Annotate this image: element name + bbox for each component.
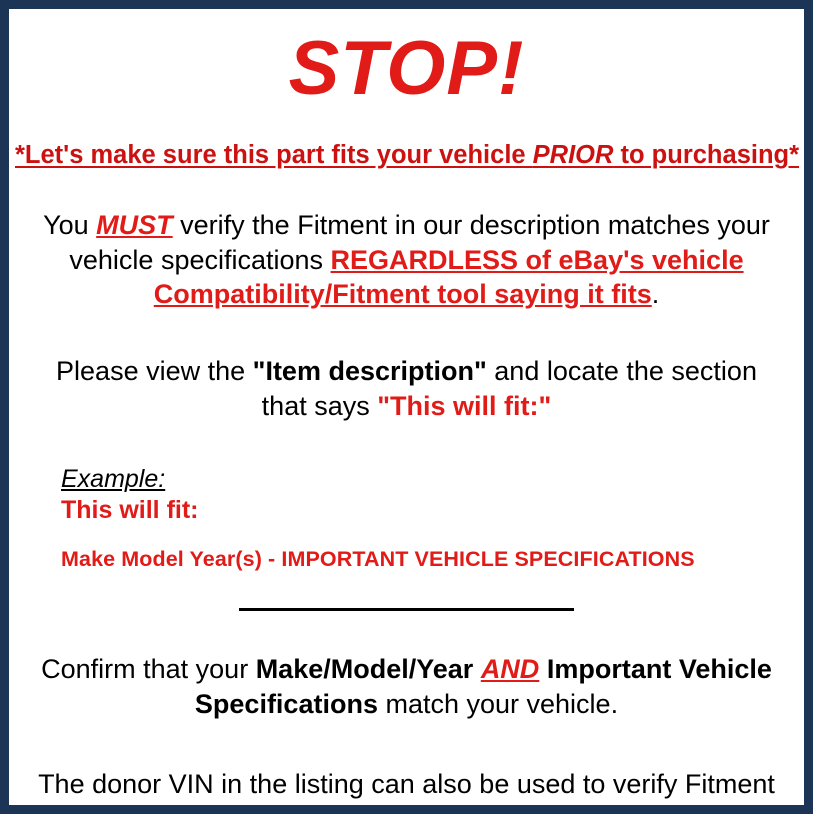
please-text-1: Please view the bbox=[56, 356, 253, 386]
must-text-3: . bbox=[652, 279, 660, 309]
page-title: STOP! bbox=[9, 31, 804, 107]
example-fit-heading: This will fit: bbox=[61, 495, 804, 525]
horizontal-rule bbox=[239, 608, 574, 611]
paragraph-item-description: Please view the "Item description" and l… bbox=[9, 354, 804, 423]
fitment-notice-card: STOP! *Let's make sure this part fits yo… bbox=[0, 0, 813, 814]
subtitle-emphasis-prior: PRIOR bbox=[533, 141, 614, 169]
make-model-year-emphasis: Make/Model/Year bbox=[256, 654, 474, 684]
subtitle-line: *Let's make sure this part fits your veh… bbox=[9, 141, 804, 170]
example-label: Example: bbox=[61, 465, 804, 493]
this-will-fit-emphasis: "This will fit:" bbox=[377, 391, 551, 421]
subtitle-text-before: *Let's make sure this part fits your veh… bbox=[15, 141, 533, 169]
example-spec-line: Make Model Year(s) - IMPORTANT VEHICLE S… bbox=[61, 547, 804, 572]
item-description-emphasis: "Item description" bbox=[253, 356, 487, 386]
must-text-1: You bbox=[43, 210, 96, 240]
paragraph-confirm: Confirm that your Make/Model/Year AND Im… bbox=[9, 652, 804, 721]
divider-wrapper bbox=[9, 598, 804, 616]
notice-content: STOP! *Let's make sure this part fits yo… bbox=[9, 31, 804, 814]
paragraph-donor-vin: The donor VIN in the listing can also be… bbox=[9, 767, 804, 814]
paragraph-must-verify: You MUST verify the Fitment in our descr… bbox=[9, 208, 804, 312]
confirm-text-1: Confirm that your bbox=[41, 654, 256, 684]
subtitle-text-after: to purchasing* bbox=[613, 141, 799, 169]
and-emphasis: AND bbox=[481, 654, 540, 684]
confirm-space-2 bbox=[539, 654, 547, 684]
confirm-text-2: match your vehicle. bbox=[378, 689, 618, 719]
example-block: Example: This will fit: Make Model Year(… bbox=[9, 465, 804, 572]
confirm-space-1 bbox=[473, 654, 481, 684]
must-emphasis: MUST bbox=[96, 210, 173, 240]
